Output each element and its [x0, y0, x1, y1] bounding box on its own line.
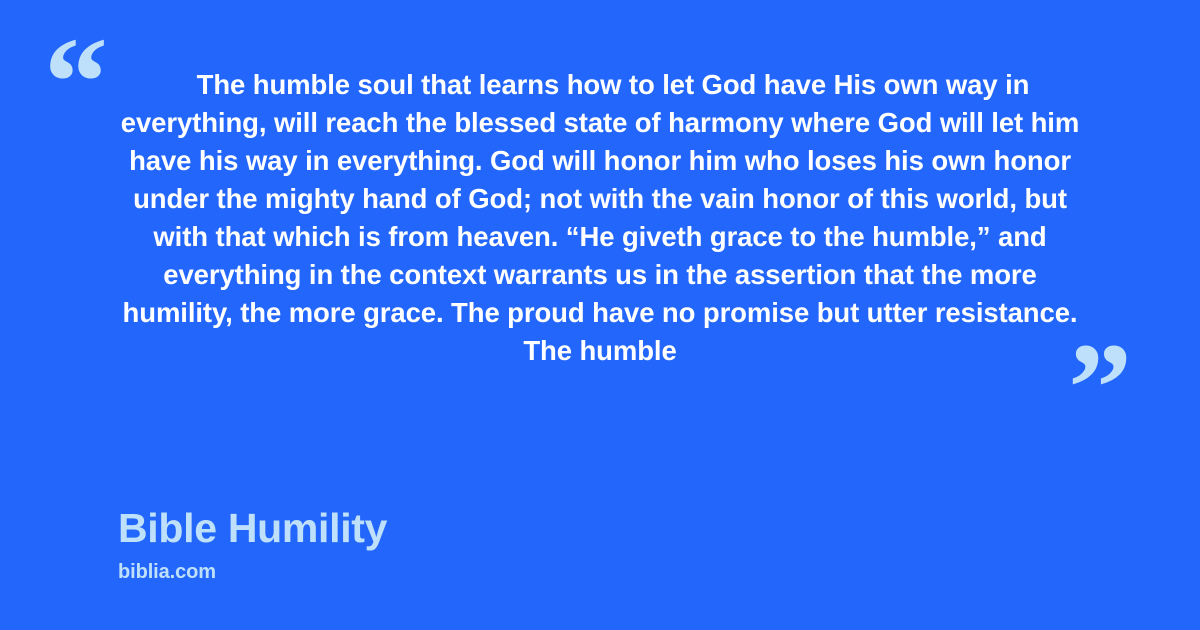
quote-text-content: The humble soul that learns how to let G… [121, 69, 1079, 366]
quote-card: “ The humble soul that learns how to let… [0, 0, 1200, 630]
brand-url: biblia.com [118, 559, 387, 585]
brand-title: Bible Humility [118, 503, 387, 553]
quote-text: The humble soul that learns how to let G… [118, 66, 1082, 370]
close-quote-icon: ” [1068, 324, 1132, 452]
brand-block: Bible Humility biblia.com [118, 503, 387, 585]
open-quote-icon: “ [44, 18, 108, 146]
